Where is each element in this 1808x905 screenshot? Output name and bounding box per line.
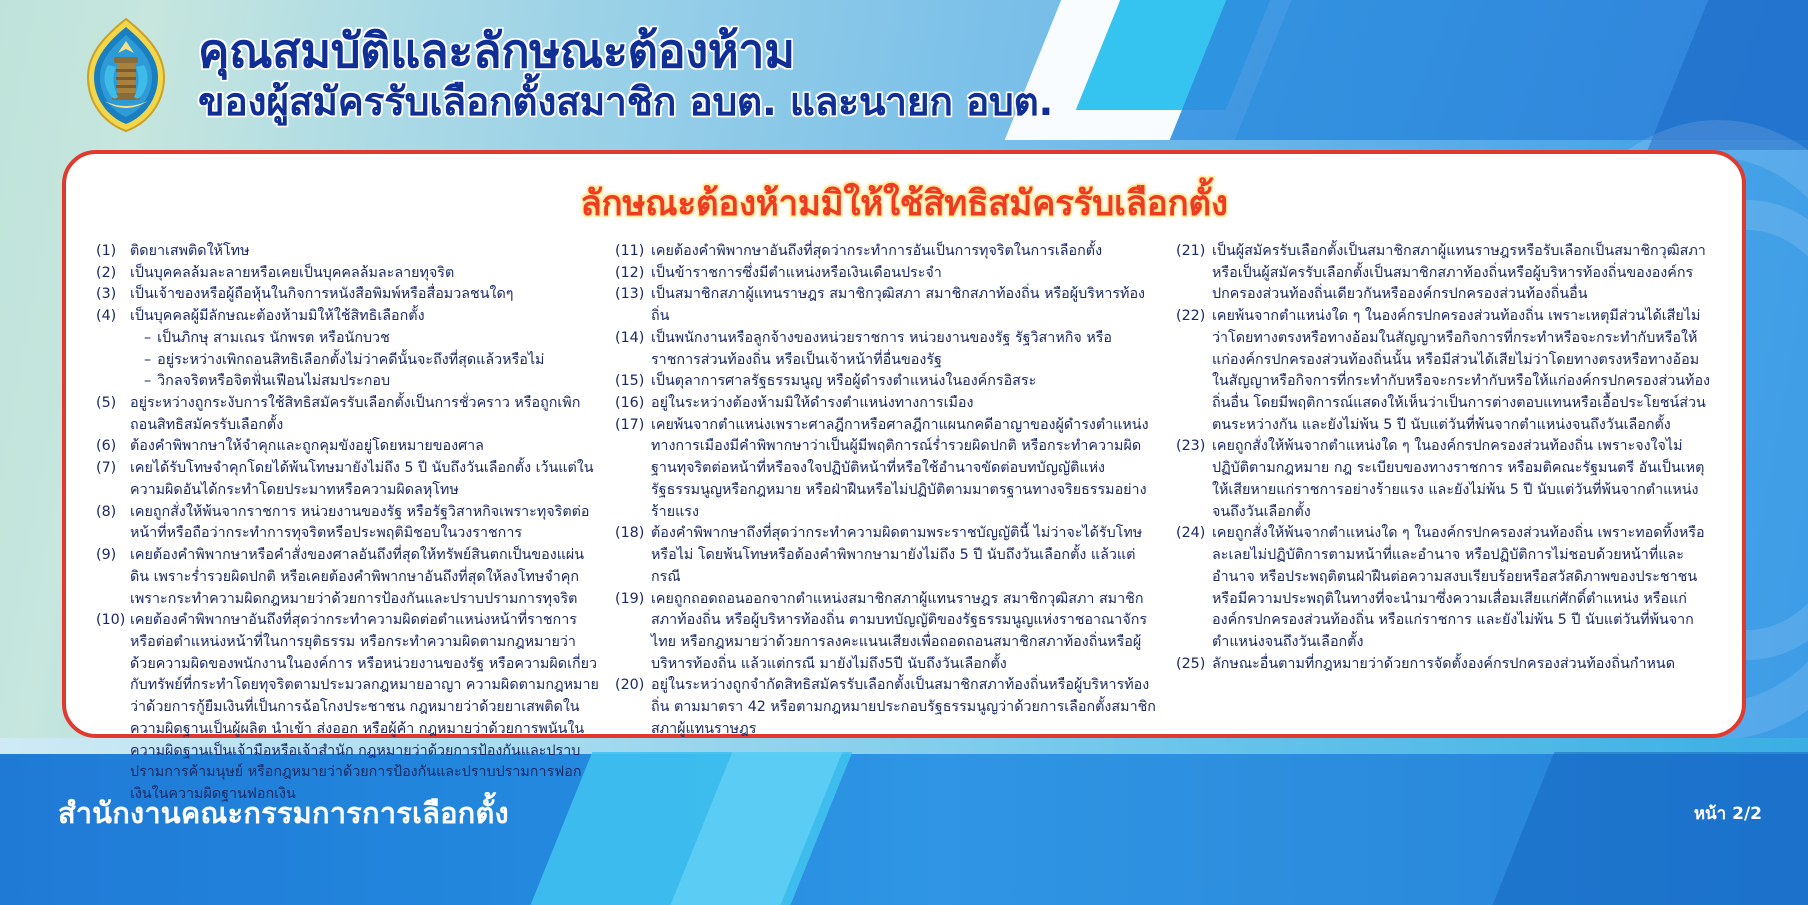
list-item: (1)ติดยาเสพติดให้โทษ: [96, 241, 599, 263]
list-item-text: อยู่ระหว่างถูกระงับการใช้สิทธิสมัครรับเล…: [130, 393, 599, 436]
list-item: (14)เป็นพนักงานหรือลูกจ้างของหน่วยราชการ…: [615, 328, 1160, 371]
list-item-text: เคยถูกสั่งให้พ้นจากตำแหน่งใด ๆ ในองค์กรป…: [1212, 523, 1712, 653]
list-item-number: (5): [96, 393, 130, 415]
content-column-1: (1)ติดยาเสพติดให้โทษ(2)เป็นบุคคลล้มละลาย…: [96, 241, 599, 806]
list-item-text: เคยพ้นจากตำแหน่งใด ๆ ในองค์กรปกครองส่วนท…: [1212, 306, 1712, 436]
list-item-text: อยู่ในระหว่างต้องห้ามมิให้ดำรงตำแหน่งทาง…: [651, 393, 1160, 415]
list-item-text: เคยได้รับโทษจำคุกโดยได้พ้นโทษมายังไม่ถึง…: [130, 458, 599, 501]
sub-item-text: เป็นภิกษุ สามเณร นักพรต หรือนักบวช: [157, 328, 390, 350]
list-item-number: (11): [615, 241, 651, 263]
list-item-text: ต้องคำพิพากษาถึงที่สุดว่ากระทำความผิดตาม…: [651, 523, 1160, 588]
list-item-number: (12): [615, 263, 651, 285]
card-title: ลักษณะต้องห้ามมิให้ใช้สิทธิสมัครรับเลือก…: [88, 176, 1720, 231]
list-item-number: (16): [615, 393, 651, 415]
infographic-poster: คุณสมบัติและลักษณะต้องห้าม ของผู้สมัครรั…: [0, 0, 1808, 905]
list-item-text: เคยพ้นจากตำแหน่งเพราะศาลฎีกาหรือศาลฎีกาแ…: [651, 415, 1160, 524]
list-item: (11)เคยต้องคำพิพากษาอันถึงที่สุดว่ากระทำ…: [615, 241, 1160, 263]
list-item: (3)เป็นเจ้าของหรือผู้ถือหุ้นในกิจการหนัง…: [96, 284, 599, 306]
page-title-line-2: ของผู้สมัครรับเลือกตั้งสมาชิก อบต. และนา…: [198, 83, 1053, 122]
poster-title-block: คุณสมบัติและลักษณะต้องห้าม ของผู้สมัครรั…: [198, 28, 1053, 122]
list-item: (18)ต้องคำพิพากษาถึงที่สุดว่ากระทำความผิ…: [615, 523, 1160, 588]
list-item-number: (21): [1176, 241, 1212, 263]
list-item-text: เป็นบุคคลล้มละลายหรือเคยเป็นบุคคลล้มละลา…: [130, 263, 599, 285]
list-item: (20)อยู่ในระหว่างถูกจำกัดสิทธิสมัครรับเล…: [615, 675, 1160, 740]
list-item-number: (15): [615, 371, 651, 393]
list-item-number: (20): [615, 675, 651, 697]
content-columns: (1)ติดยาเสพติดให้โทษ(2)เป็นบุคคลล้มละลาย…: [88, 241, 1720, 806]
list-item: (19)เคยถูกถอดถอนออกจากตำแหน่งสมาชิกสภาผู…: [615, 589, 1160, 676]
poster-header: คุณสมบัติและลักษณะต้องห้าม ของผู้สมัครรั…: [0, 0, 1808, 150]
list-item: (24)เคยถูกสั่งให้พ้นจากตำแหน่งใด ๆ ในองค…: [1176, 523, 1712, 653]
list-item: (2)เป็นบุคคลล้มละลายหรือเคยเป็นบุคคลล้มล…: [96, 263, 599, 285]
list-item-number: (24): [1176, 523, 1212, 545]
list-item-number: (3): [96, 284, 130, 306]
list-item-number: (22): [1176, 306, 1212, 328]
list-item-text: เคยถูกสั่งให้พ้นจากตำแหน่งใด ๆ ในองค์กรป…: [1212, 436, 1712, 523]
list-item-text: อยู่ในระหว่างถูกจำกัดสิทธิสมัครรับเลือกต…: [651, 675, 1160, 740]
list-sub-item: –อยู่ระหว่างเพิกถอนสิทธิเลือกตั้งไม่ว่าค…: [96, 350, 599, 372]
list-item: (9)เคยต้องคำพิพากษาหรือคำสั่งของศาลอันถึ…: [96, 545, 599, 610]
list-item: (25)ลักษณะอื่นตามที่กฎหมายว่าด้วยการจัดต…: [1176, 654, 1712, 676]
list-item: (21)เป็นผู้สมัครรับเลือกตั้งเป็นสมาชิกสภ…: [1176, 241, 1712, 306]
list-item-text: เคยถูกสั่งให้พ้นจากราชการ หน่วยงานของรัฐ…: [130, 502, 599, 545]
list-item-text: เป็นสมาชิกสภาผู้แทนราษฎร สมาชิกวุฒิสภา ส…: [651, 284, 1160, 327]
list-item: (8)เคยถูกสั่งให้พ้นจากราชการ หน่วยงานของ…: [96, 502, 599, 545]
content-card: ลักษณะต้องห้ามมิให้ใช้สิทธิสมัครรับเลือก…: [62, 150, 1746, 738]
list-item-number: (18): [615, 523, 651, 545]
list-item-text: ติดยาเสพติดให้โทษ: [130, 241, 599, 263]
sub-item-dash: –: [144, 371, 157, 393]
list-item-text: เคยต้องคำพิพากษาอันถึงที่สุดว่ากระทำการอ…: [651, 241, 1160, 263]
list-item-text: เคยต้องคำพิพากษาอันถึงที่สุดว่ากระทำความ…: [130, 610, 599, 805]
list-item-text: เป็นตุลาการศาลรัฐธรรมนูญ หรือผู้ดำรงตำแห…: [651, 371, 1160, 393]
sub-item-text: วิกลจริตหรือจิตฟั่นเฟือนไม่สมประกอบ: [157, 371, 390, 393]
list-item: (10)เคยต้องคำพิพากษาอันถึงที่สุดว่ากระทำ…: [96, 610, 599, 805]
list-item-number: (1): [96, 241, 130, 263]
sub-item-dash: –: [144, 328, 157, 350]
list-sub-item: –เป็นภิกษุ สามเณร นักพรต หรือนักบวช: [96, 328, 599, 350]
list-item-number: (10): [96, 610, 130, 632]
list-item-number: (9): [96, 545, 130, 567]
list-item: (7)เคยได้รับโทษจำคุกโดยได้พ้นโทษมายังไม่…: [96, 458, 599, 501]
list-item: (6)ต้องคำพิพากษาให้จำคุกและถูกคุมขังอยู่…: [96, 436, 599, 458]
list-item: (22)เคยพ้นจากตำแหน่งใด ๆ ในองค์กรปกครองส…: [1176, 306, 1712, 436]
list-item-number: (13): [615, 284, 651, 306]
list-item-number: (2): [96, 263, 130, 285]
content-column-3: (21)เป็นผู้สมัครรับเลือกตั้งเป็นสมาชิกสภ…: [1176, 241, 1712, 675]
list-item-text: เคยถูกถอดถอนออกจากตำแหน่งสมาชิกสภาผู้แทน…: [651, 589, 1160, 676]
list-item: (4)เป็นบุคคลผู้มีลักษณะต้องห้ามมิให้ใช้ส…: [96, 306, 599, 328]
list-item-text: เคยต้องคำพิพากษาหรือคำสั่งของศาลอันถึงที…: [130, 545, 599, 610]
list-item-number: (19): [615, 589, 651, 611]
list-item-number: (23): [1176, 436, 1212, 458]
list-item-number: (25): [1176, 654, 1212, 676]
sub-item-text: อยู่ระหว่างเพิกถอนสิทธิเลือกตั้งไม่ว่าคด…: [157, 350, 544, 372]
list-item: (15)เป็นตุลาการศาลรัฐธรรมนูญ หรือผู้ดำรง…: [615, 371, 1160, 393]
list-item-number: (17): [615, 415, 651, 437]
list-item-text: ต้องคำพิพากษาให้จำคุกและถูกคุมขังอยู่โดย…: [130, 436, 599, 458]
content-column-2: (11)เคยต้องคำพิพากษาอันถึงที่สุดว่ากระทำ…: [615, 241, 1160, 741]
list-item-number: (8): [96, 502, 130, 524]
list-item-text: เป็นผู้สมัครรับเลือกตั้งเป็นสมาชิกสภาผู้…: [1212, 241, 1712, 306]
list-item-text: เป็นพนักงานหรือลูกจ้างของหน่วยราชการ หน่…: [651, 328, 1160, 371]
sub-item-dash: –: [144, 350, 157, 372]
list-item-number: (4): [96, 306, 130, 328]
list-item-number: (6): [96, 436, 130, 458]
list-item: (12)เป็นข้าราชการซึ่งมีตำแหน่งหรือเงินเด…: [615, 263, 1160, 285]
page-title-line-1: คุณสมบัติและลักษณะต้องห้าม: [198, 28, 1053, 75]
list-item: (23)เคยถูกสั่งให้พ้นจากตำแหน่งใด ๆ ในองค…: [1176, 436, 1712, 523]
list-item: (5)อยู่ระหว่างถูกระงับการใช้สิทธิสมัครรั…: [96, 393, 599, 436]
list-item: (13)เป็นสมาชิกสภาผู้แทนราษฎร สมาชิกวุฒิส…: [615, 284, 1160, 327]
list-item-text: ลักษณะอื่นตามที่กฎหมายว่าด้วยการจัดตั้งอ…: [1212, 654, 1712, 676]
list-item-text: เป็นบุคคลผู้มีลักษณะต้องห้ามมิให้ใช้สิทธ…: [130, 306, 599, 328]
ect-emblem-icon: [72, 15, 180, 135]
list-item: (17)เคยพ้นจากตำแหน่งเพราะศาลฎีกาหรือศาลฎ…: [615, 415, 1160, 524]
list-item-text: เป็นข้าราชการซึ่งมีตำแหน่งหรือเงินเดือนป…: [651, 263, 1160, 285]
list-item-text: เป็นเจ้าของหรือผู้ถือหุ้นในกิจการหนังสือ…: [130, 284, 599, 306]
list-item: (16)อยู่ในระหว่างต้องห้ามมิให้ดำรงตำแหน่…: [615, 393, 1160, 415]
list-item-number: (14): [615, 328, 651, 350]
list-sub-item: –วิกลจริตหรือจิตฟั่นเฟือนไม่สมประกอบ: [96, 371, 599, 393]
list-item-number: (7): [96, 458, 130, 480]
